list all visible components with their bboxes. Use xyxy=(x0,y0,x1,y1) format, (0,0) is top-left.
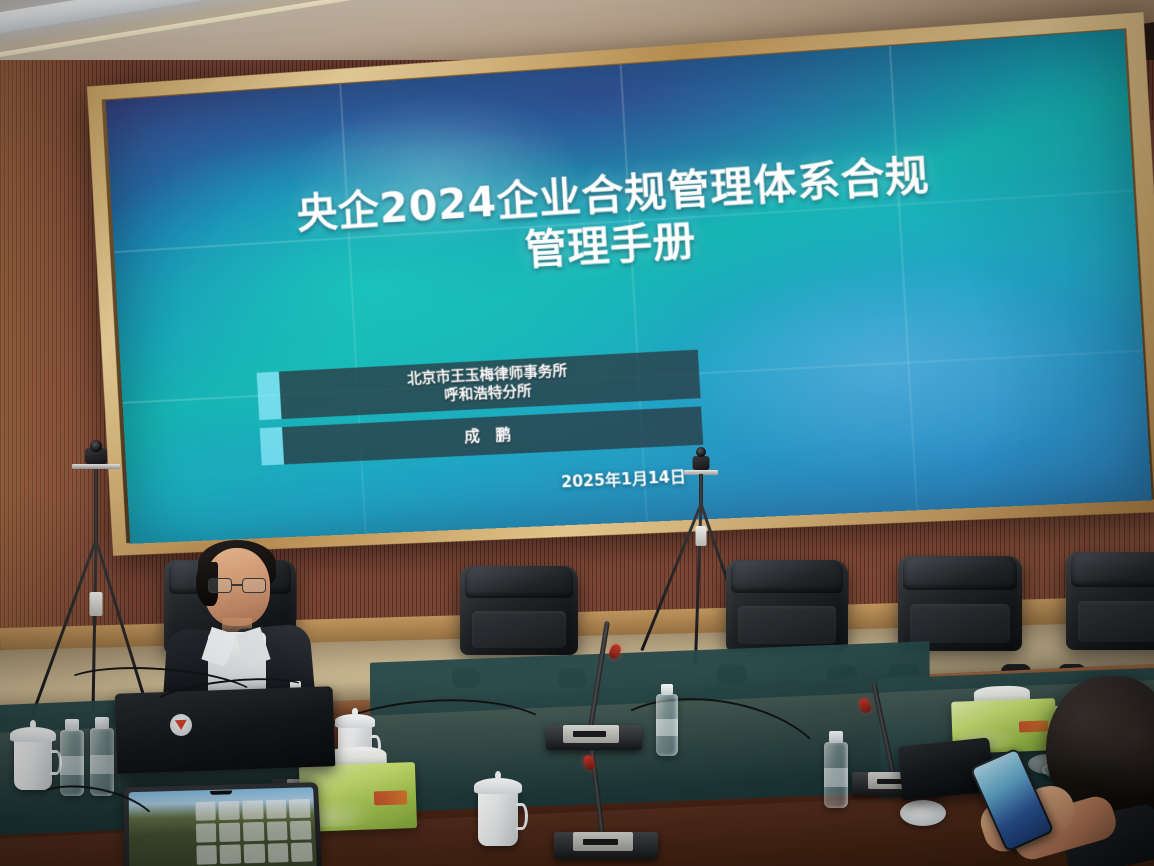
cup-body xyxy=(478,790,518,846)
cup-body xyxy=(14,738,52,790)
bottle-label xyxy=(824,768,848,786)
conference-microphone-4[interactable] xyxy=(554,795,658,859)
mic-display xyxy=(573,731,606,736)
accent-tab-presenter xyxy=(260,427,284,466)
desktop-icon[interactable] xyxy=(219,801,240,820)
tissue-box-logo xyxy=(374,790,407,806)
desktop-icon[interactable] xyxy=(290,821,312,840)
chair-lumbar xyxy=(738,606,836,644)
desktop-icon[interactable] xyxy=(242,800,263,819)
desktop-icon[interactable] xyxy=(219,823,240,842)
cup-lid xyxy=(10,727,56,743)
eyeglasses-icon xyxy=(208,578,266,593)
laptop-webcam-icon xyxy=(210,790,232,795)
desktop-icon[interactable] xyxy=(243,822,264,841)
presentation-slide: 央企2024企业合规管理体系合规 管理手册 北京市王玉梅律师事务所 呼和浩特分所… xyxy=(106,30,1152,544)
camera-lens-left xyxy=(90,440,102,452)
chair-headrest xyxy=(465,566,574,598)
lidded-teacup-3 xyxy=(14,738,52,790)
desktop-icon[interactable] xyxy=(220,844,241,864)
chair-lumbar xyxy=(472,611,566,648)
lens-left xyxy=(208,578,232,593)
desktop-icon[interactable] xyxy=(291,843,313,863)
bottle-label xyxy=(90,755,114,774)
tripod-accessory-left xyxy=(90,592,103,616)
desktop-icon[interactable] xyxy=(267,843,289,863)
bottle-cap xyxy=(65,719,78,731)
accent-tab-organization xyxy=(257,371,282,419)
chair-headrest xyxy=(1071,552,1154,587)
mic-display xyxy=(583,839,618,845)
cup-lid xyxy=(474,778,522,795)
lidded-teacup-2 xyxy=(478,790,518,846)
desktop-icon[interactable] xyxy=(195,802,216,821)
cup-knob xyxy=(352,708,357,715)
desktop-icon[interactable] xyxy=(196,823,217,842)
bottle-cap xyxy=(829,731,842,743)
desktop-icon[interactable] xyxy=(244,844,265,864)
chair-lumbar xyxy=(1078,601,1154,642)
desktop-icon[interactable] xyxy=(289,799,310,818)
water-bottle-4 xyxy=(656,694,678,756)
desktop-icon[interactable] xyxy=(266,821,287,840)
camera-lens-center xyxy=(696,447,706,457)
tripod-column-left xyxy=(94,469,98,543)
slide-credits: 北京市王玉梅律师事务所 呼和浩特分所 成 鹏 xyxy=(257,349,704,474)
tissue-box-logo xyxy=(1018,720,1047,732)
chair-lumbar xyxy=(910,604,1009,644)
camera-body-center xyxy=(693,456,710,470)
water-bottle-5 xyxy=(824,742,848,808)
conference-room-photo: 央企2024企业合规管理体系合规 管理手册 北京市王玉梅律师事务所 呼和浩特分所… xyxy=(0,0,1154,866)
chair-headrest xyxy=(903,556,1017,590)
desktop-icon[interactable] xyxy=(196,845,217,865)
led-video-wall[interactable]: 央企2024企业合规管理体系合规 管理手册 北京市王玉梅律师事务所 呼和浩特分所… xyxy=(106,30,1152,544)
desktop-icon[interactable] xyxy=(266,800,287,819)
glasses-bridge xyxy=(232,584,242,586)
cup-knob xyxy=(30,720,36,728)
laptop-desktop-icons[interactable] xyxy=(195,799,313,865)
lens-right xyxy=(242,578,266,593)
saucer-right xyxy=(900,800,946,826)
water-bottle-2 xyxy=(90,728,114,796)
bottle-cap xyxy=(661,684,673,695)
chair-headrest xyxy=(731,560,843,593)
slide-title: 央企2024企业合规管理体系合规 管理手册 xyxy=(111,138,1136,300)
bottle-cap xyxy=(95,717,108,729)
bottle-label xyxy=(656,719,678,736)
tripod-accessory-center xyxy=(696,526,707,546)
cup-knob xyxy=(495,771,501,780)
bottle-label xyxy=(60,756,84,774)
